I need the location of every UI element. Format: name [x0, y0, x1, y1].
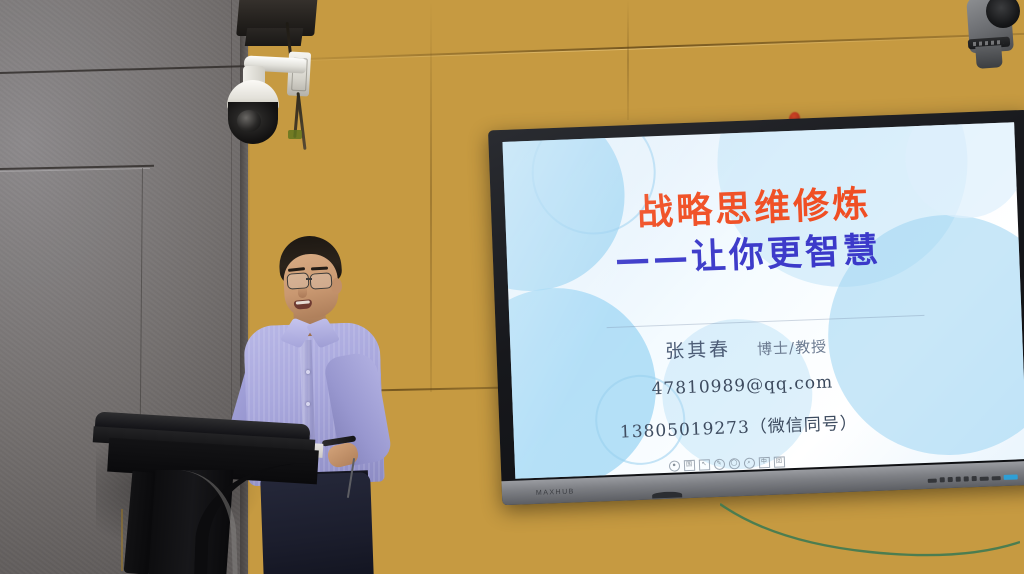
- ime-language-icon[interactable]: 国: [683, 460, 694, 471]
- glasses-lens-right-icon: [309, 272, 332, 289]
- wall-seam-vertical-right: [430, 0, 432, 392]
- presenter-ear: [331, 278, 342, 294]
- ime-chinese-mode-icon[interactable]: 中: [758, 457, 769, 468]
- corner-camera-mount: [975, 45, 1002, 69]
- display-button-5[interactable]: [972, 476, 977, 481]
- presenter-shirt-button: [306, 402, 310, 406]
- glasses-bridge-icon: [306, 278, 312, 280]
- wall-seam-vertical-far: [627, 0, 629, 120]
- display-button-4[interactable]: [964, 476, 969, 481]
- camera-connector: [288, 130, 302, 139]
- ime-pen-icon[interactable]: ✎: [713, 459, 724, 470]
- display-hdmi-port[interactable]: [980, 476, 989, 480]
- display-power-indicator: [1004, 474, 1018, 480]
- display-ir-sensor: [652, 491, 682, 498]
- ceiling-duct-base: [245, 28, 304, 46]
- interactive-flat-panel[interactable]: 战略思维修炼 ——让你更智慧 张其春 博士/教授 47810989@qq.com…: [488, 110, 1024, 505]
- display-button-2[interactable]: [948, 477, 953, 482]
- ime-circle-icon[interactable]: ◯: [728, 458, 739, 469]
- ime-toolbar[interactable]: ● 国 ↖ ✎ ◯ ⌕ 中 回: [668, 456, 784, 471]
- ime-globe-icon[interactable]: ●: [668, 460, 679, 471]
- presenter-nose: [298, 286, 307, 298]
- display-screen[interactable]: 战略思维修炼 ——让你更智慧 张其春 博士/教授 47810989@qq.com…: [502, 122, 1024, 478]
- display-bezel: 战略思维修炼 ——让你更智慧 张其春 博士/教授 47810989@qq.com…: [488, 110, 1024, 505]
- ime-cursor-icon[interactable]: ↖: [698, 459, 709, 470]
- lecture-hall-photo: 战略思维修炼 ——让你更智慧 张其春 博士/教授 47810989@qq.com…: [0, 0, 1024, 574]
- slide-author-role: 博士/教授: [757, 335, 828, 359]
- display-button-3[interactable]: [956, 477, 961, 482]
- display-brand-logo: MAXHUB: [536, 488, 575, 496]
- display-button-1[interactable]: [940, 477, 945, 482]
- display-vga-port[interactable]: [992, 476, 1001, 480]
- ime-search-icon[interactable]: ⌕: [743, 458, 754, 469]
- ime-return-icon[interactable]: 回: [773, 456, 784, 467]
- display-port-panel[interactable]: [928, 474, 1018, 482]
- presenter-shirt-button: [306, 370, 310, 374]
- display-usb-port[interactable]: [928, 478, 937, 482]
- slide-author-name: 张其春: [665, 334, 732, 364]
